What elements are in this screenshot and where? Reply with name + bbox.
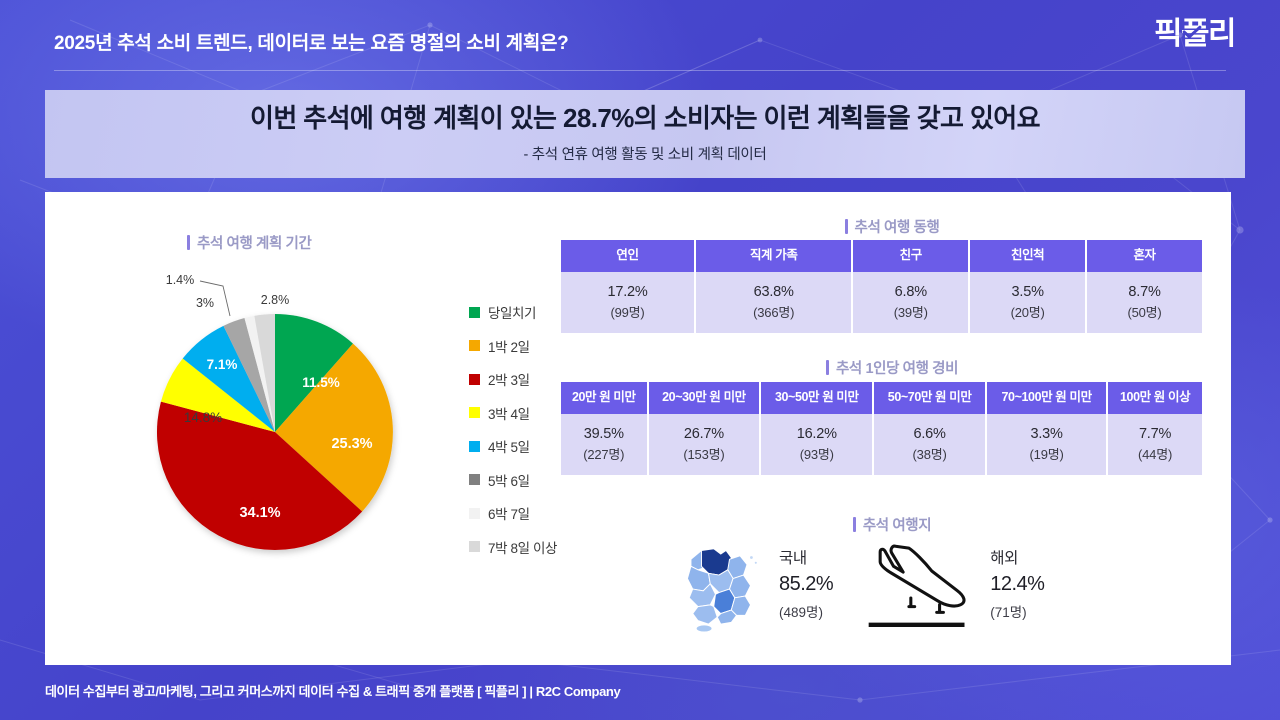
table-cell: 8.7%(50명)	[1087, 272, 1202, 334]
stats-panel: 추석 여행 동행 연인 직계 가족 친구 친인척 혼자 17.2%(99명)	[553, 192, 1231, 665]
expense-section-title: 추석 1인당 여행 경비	[836, 357, 958, 378]
cell-percent: 63.8%	[754, 284, 794, 300]
heading-bar-icon	[853, 517, 856, 532]
destination-name: 국내	[779, 546, 833, 568]
table-cell: 26.7%(153명)	[649, 414, 760, 476]
destination-count: (71명)	[990, 601, 1044, 621]
legend-item[interactable]: 4박 5일	[469, 436, 557, 456]
legend-swatch-icon	[469, 307, 480, 318]
destination-section-heading: 추석 여행지	[553, 514, 1231, 535]
heading-bar-icon	[187, 235, 190, 250]
legend-swatch-icon	[469, 474, 480, 485]
expense-section-heading: 추석 1인당 여행 경비	[553, 357, 1231, 378]
table-cell: 6.8%(39명)	[853, 272, 968, 334]
headline-banner: 이번 추석에 여행 계획이 있는 28.7%의 소비자는 이런 계획들을 갖고 …	[45, 90, 1245, 178]
legend-label: 5박 6일	[488, 470, 530, 490]
cell-percent: 17.2%	[607, 284, 647, 300]
cell-count: (227명)	[563, 446, 645, 465]
legend-item[interactable]: 3박 4일	[469, 403, 557, 423]
pie-slice-label-1: 25.3%	[331, 436, 372, 452]
cell-percent: 39.5%	[584, 426, 624, 442]
check-icon	[1182, 25, 1203, 39]
legend-swatch-icon	[469, 441, 480, 452]
pie-slice-label-0: 11.5%	[302, 375, 340, 390]
banner-subtitle: - 추석 연휴 여행 활동 및 소비 계획 데이터	[524, 143, 767, 164]
table-cell: 17.2%(99명)	[561, 272, 694, 334]
legend-label: 1박 2일	[488, 336, 530, 356]
destination-percent: 85.2%	[779, 573, 833, 596]
legend-swatch-icon	[469, 340, 480, 351]
legend-swatch-icon	[469, 374, 480, 385]
content-card: 추석 여행 계획 기간	[45, 192, 1231, 665]
cell-count: (38명)	[876, 446, 983, 465]
table-cell: 3.5%(20명)	[970, 272, 1085, 334]
heading-bar-icon	[845, 219, 848, 234]
cell-percent: 6.8%	[895, 284, 927, 300]
companion-section-title: 추석 여행 동행	[855, 216, 940, 237]
cell-count: (153명)	[651, 446, 758, 465]
companion-section-heading: 추석 여행 동행	[553, 216, 1231, 237]
pie-slice-label-6: 1.4%	[166, 273, 195, 287]
pie-chart-panel: 추석 여행 계획 기간	[45, 192, 565, 665]
legend-item[interactable]: 6박 7일	[469, 503, 557, 523]
table-header-cell: 친구	[853, 240, 968, 272]
companion-table: 연인 직계 가족 친구 친인척 혼자 17.2%(99명) 63.8%(366명…	[559, 240, 1204, 333]
legend-swatch-icon	[469, 541, 480, 552]
cell-percent: 3.5%	[1012, 284, 1044, 300]
pie-slice-label-4: 7.1%	[207, 357, 238, 372]
legend-swatch-icon	[469, 407, 480, 418]
cell-percent: 3.3%	[1030, 426, 1062, 442]
page-header: 2025년 추석 소비 트렌드, 데이터로 보는 요즘 명절의 소비 계획은? …	[0, 0, 1280, 80]
heading-bar-icon	[826, 360, 829, 375]
legend-label: 당일치기	[488, 302, 536, 322]
legend-label: 6박 7일	[488, 503, 530, 523]
table-cell: 39.5%(227명)	[561, 414, 647, 476]
table-header-cell: 직계 가족	[696, 240, 851, 272]
banner-title: 이번 추석에 여행 계획이 있는 28.7%의 소비자는 이런 계획들을 갖고 …	[250, 104, 1040, 134]
pie-slice-label-3: 14.8%	[184, 410, 222, 425]
pie-section-title: 추석 여행 계획 기간	[197, 232, 311, 253]
cell-count: (99명)	[563, 304, 692, 323]
table-row: 39.5%(227명) 26.7%(153명) 16.2%(93명) 6.6%(…	[561, 414, 1202, 476]
legend-label: 2박 3일	[488, 369, 530, 389]
airplane-icon	[861, 540, 976, 632]
legend-label: 7박 8일 이상	[488, 537, 557, 557]
pie-legend: 당일치기 1박 2일 2박 3일 3박 4일 4박 5일 5박 6일	[469, 302, 557, 557]
destination-stats: 국내 85.2% (489명)	[673, 540, 1044, 632]
table-header-row: 연인 직계 가족 친구 친인척 혼자	[561, 240, 1202, 272]
header-divider	[54, 70, 1226, 71]
table-header-cell: 20~30만 원 미만	[649, 382, 760, 414]
table-cell: 6.6%(38명)	[874, 414, 985, 476]
legend-item[interactable]: 1박 2일	[469, 336, 557, 356]
cell-count: (93명)	[763, 446, 870, 465]
legend-swatch-icon	[469, 508, 480, 519]
legend-item[interactable]: 2박 3일	[469, 369, 557, 389]
legend-item[interactable]: 7박 8일 이상	[469, 537, 557, 557]
table-header-cell: 100만 원 이상	[1108, 382, 1202, 414]
page-footer: 데이터 수집부터 광고/마케팅, 그리고 커머스까지 데이터 수집 & 트래픽 …	[0, 665, 1280, 720]
destination-overseas: 해외 12.4% (71명)	[861, 540, 1044, 632]
cell-count: (19명)	[989, 446, 1104, 465]
brand-logo[interactable]: 픽플리	[1154, 18, 1235, 49]
destination-name: 해외	[990, 546, 1044, 568]
legend-label: 4박 5일	[488, 436, 530, 456]
destination-domestic: 국내 85.2% (489명)	[673, 540, 833, 632]
table-row: 17.2%(99명) 63.8%(366명) 6.8%(39명) 3.5%(20…	[561, 272, 1202, 334]
cell-percent: 8.7%	[1128, 284, 1160, 300]
cell-percent: 16.2%	[797, 426, 837, 442]
table-header-cell: 혼자	[1087, 240, 1202, 272]
expense-table: 20만 원 미만 20~30만 원 미만 30~50만 원 미만 50~70만 …	[559, 382, 1204, 475]
table-header-cell: 20만 원 미만	[561, 382, 647, 414]
pie-slice-label-2: 34.1%	[239, 505, 280, 521]
table-header-cell: 50~70만 원 미만	[874, 382, 985, 414]
cell-percent: 6.6%	[913, 426, 945, 442]
cell-count: (20명)	[972, 304, 1083, 323]
table-cell: 3.3%(19명)	[987, 414, 1106, 476]
table-header-row: 20만 원 미만 20~30만 원 미만 30~50만 원 미만 50~70만 …	[561, 382, 1202, 414]
cell-count: (50명)	[1089, 304, 1200, 323]
legend-item[interactable]: 당일치기	[469, 302, 557, 322]
table-cell: 16.2%(93명)	[761, 414, 872, 476]
table-header-cell: 연인	[561, 240, 694, 272]
cell-percent: 7.7%	[1139, 426, 1171, 442]
cell-percent: 26.7%	[684, 426, 724, 442]
destination-percent: 12.4%	[990, 573, 1044, 596]
table-header-cell: 70~100만 원 미만	[987, 382, 1106, 414]
legend-item[interactable]: 5박 6일	[469, 470, 557, 490]
page-title: 2025년 추석 소비 트렌드, 데이터로 보는 요즘 명절의 소비 계획은?	[54, 28, 568, 55]
destination-section-title: 추석 여행지	[863, 514, 931, 535]
table-header-cell: 30~50만 원 미만	[761, 382, 872, 414]
pie-slice-label-7: 2.8%	[261, 293, 290, 307]
table-cell: 63.8%(366명)	[696, 272, 851, 334]
table-header-cell: 친인척	[970, 240, 1085, 272]
legend-label: 3박 4일	[488, 403, 530, 423]
footer-text: 데이터 수집부터 광고/마케팅, 그리고 커머스까지 데이터 수집 & 트래픽 …	[45, 681, 620, 700]
travel-duration-pie-chart: 11.5% 25.3% 34.1% 14.8% 7.1% 3% 1.4% 2.8…	[150, 272, 440, 572]
cell-count: (39명)	[855, 304, 966, 323]
cell-count: (366명)	[698, 304, 849, 323]
table-cell: 7.7%(44명)	[1108, 414, 1202, 476]
destination-count: (489명)	[779, 601, 833, 621]
korea-map-icon	[673, 540, 765, 632]
cell-count: (44명)	[1110, 446, 1200, 465]
pie-section-heading: 추석 여행 계획 기간	[187, 232, 311, 253]
pie-slice-label-5: 3%	[196, 296, 214, 310]
